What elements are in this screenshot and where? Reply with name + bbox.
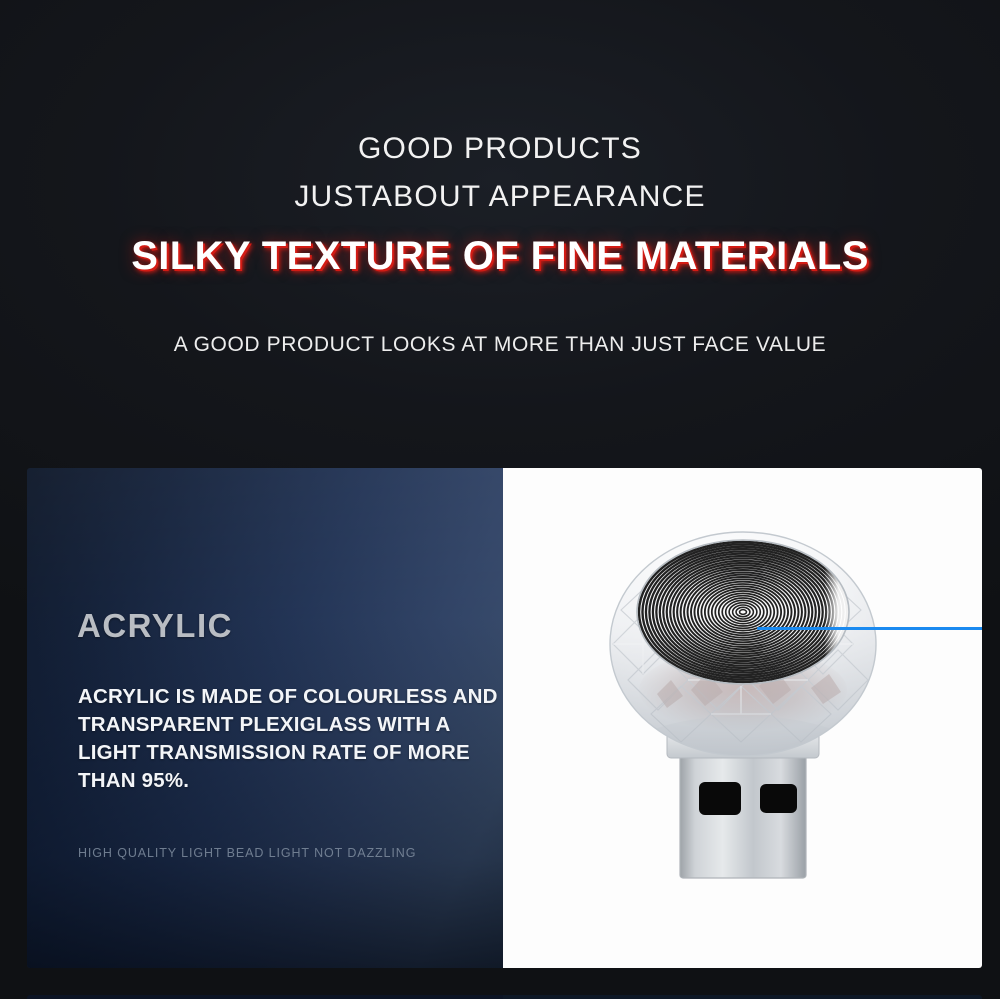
usb-ambient-light-illustration bbox=[573, 494, 913, 944]
feature-panel-photo-half bbox=[503, 468, 982, 968]
hero-eyebrow-line-2: JUSTABOUT APPEARANCE bbox=[0, 180, 1000, 214]
product-photo bbox=[573, 494, 913, 944]
feature-title: ACRYLIC bbox=[77, 607, 233, 645]
usb-connector bbox=[680, 750, 806, 878]
feature-panel-text-half: ACRYLIC ACRYLIC IS MADE OF COLOURLESS AN… bbox=[27, 468, 503, 968]
next-panel-right bbox=[503, 995, 982, 999]
feature-panel: ACRYLIC ACRYLIC IS MADE OF COLOURLESS AN… bbox=[27, 468, 982, 968]
hero-subtitle: A GOOD PRODUCT LOOKS AT MORE THAN JUST F… bbox=[0, 333, 1000, 357]
feature-description: ACRYLIC IS MADE OF COLOURLESS AND TRANSP… bbox=[78, 683, 498, 795]
next-panel-preview bbox=[27, 995, 982, 999]
product-detail-page: GOOD PRODUCTS JUSTABOUT APPEARANCE SILKY… bbox=[0, 0, 1000, 999]
next-panel-left bbox=[27, 995, 503, 999]
feature-footnote: HIGH QUALITY LIGHT BEAD LIGHT NOT DAZZLI… bbox=[78, 846, 416, 860]
hero-headline: SILKY TEXTURE OF FINE MATERIALS bbox=[0, 234, 1000, 279]
hero-eyebrow-line-1: GOOD PRODUCTS bbox=[0, 132, 1000, 166]
